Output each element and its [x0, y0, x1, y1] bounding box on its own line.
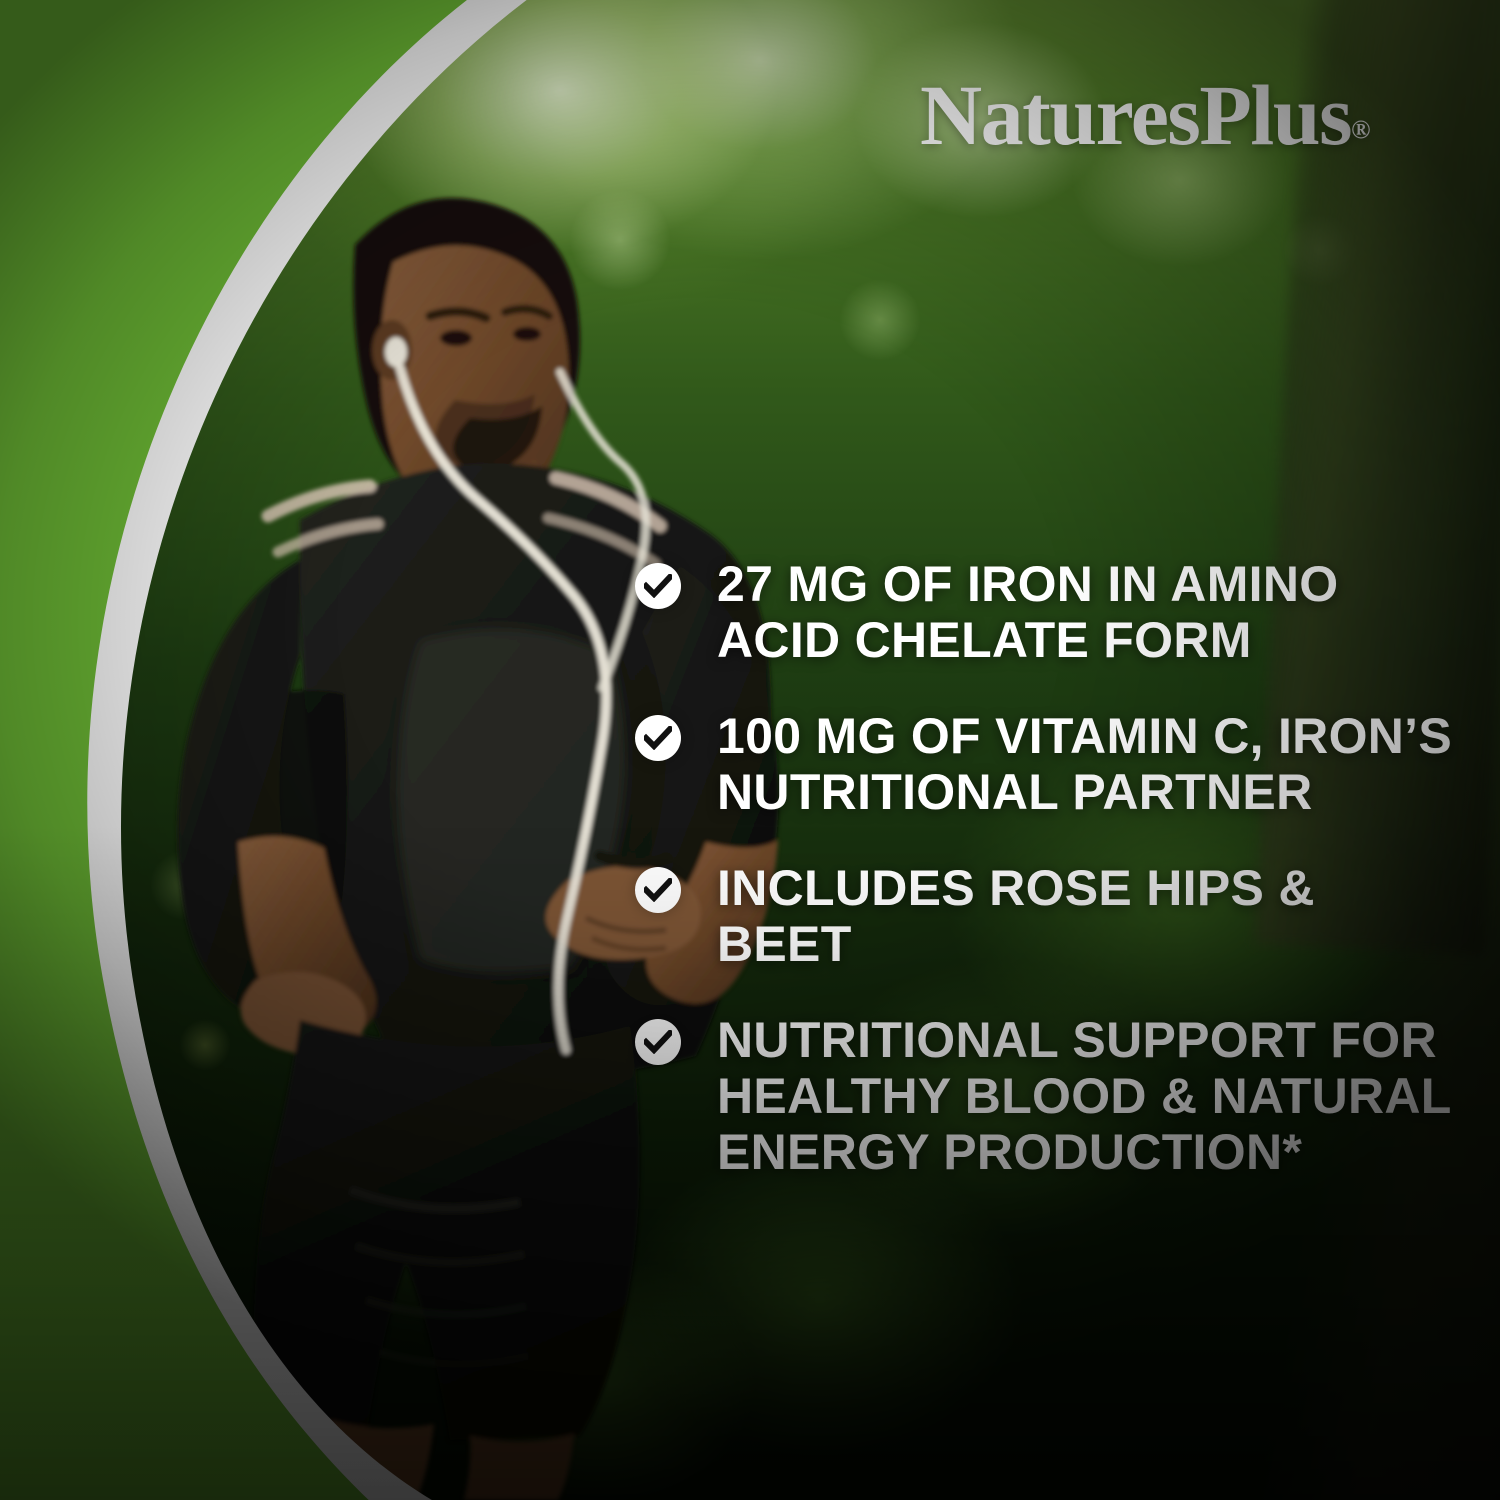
feature-bullet-item: 100 MG OF VITAMIN C, IRON’S NUTRITIONAL … — [635, 708, 1465, 820]
feature-bullet-list: 27 MG OF IRON IN AMINO ACID CHELATE FORM… — [635, 556, 1465, 1220]
feature-bullet-text: 100 MG OF VITAMIN C, IRON’S NUTRITIONAL … — [717, 708, 1457, 820]
feature-bullet-text: 27 MG OF IRON IN AMINO ACID CHELATE FORM — [717, 556, 1457, 668]
feature-bullet-item: NUTRITIONAL SUPPORT FOR HEALTHY BLOOD & … — [635, 1012, 1465, 1180]
feature-bullet-item: 27 MG OF IRON IN AMINO ACID CHELATE FORM — [635, 556, 1465, 668]
check-circle-icon — [635, 867, 681, 913]
product-feature-banner: NaturesPlus® 27 MG OF IRON IN AMINO ACID… — [0, 0, 1500, 1500]
check-circle-icon — [635, 715, 681, 761]
check-circle-icon — [635, 563, 681, 609]
feature-bullet-item: INCLUDES ROSE HIPS & BEET — [635, 860, 1465, 972]
registered-trademark-icon: ® — [1351, 115, 1370, 144]
feature-bullet-text: INCLUDES ROSE HIPS & BEET — [717, 860, 1457, 972]
check-circle-icon — [635, 1019, 681, 1065]
feature-bullet-text: NUTRITIONAL SUPPORT FOR HEALTHY BLOOD & … — [717, 1012, 1457, 1180]
brand-logo: NaturesPlus® — [920, 72, 1371, 158]
brand-logo-text: NaturesPlus — [920, 67, 1351, 163]
